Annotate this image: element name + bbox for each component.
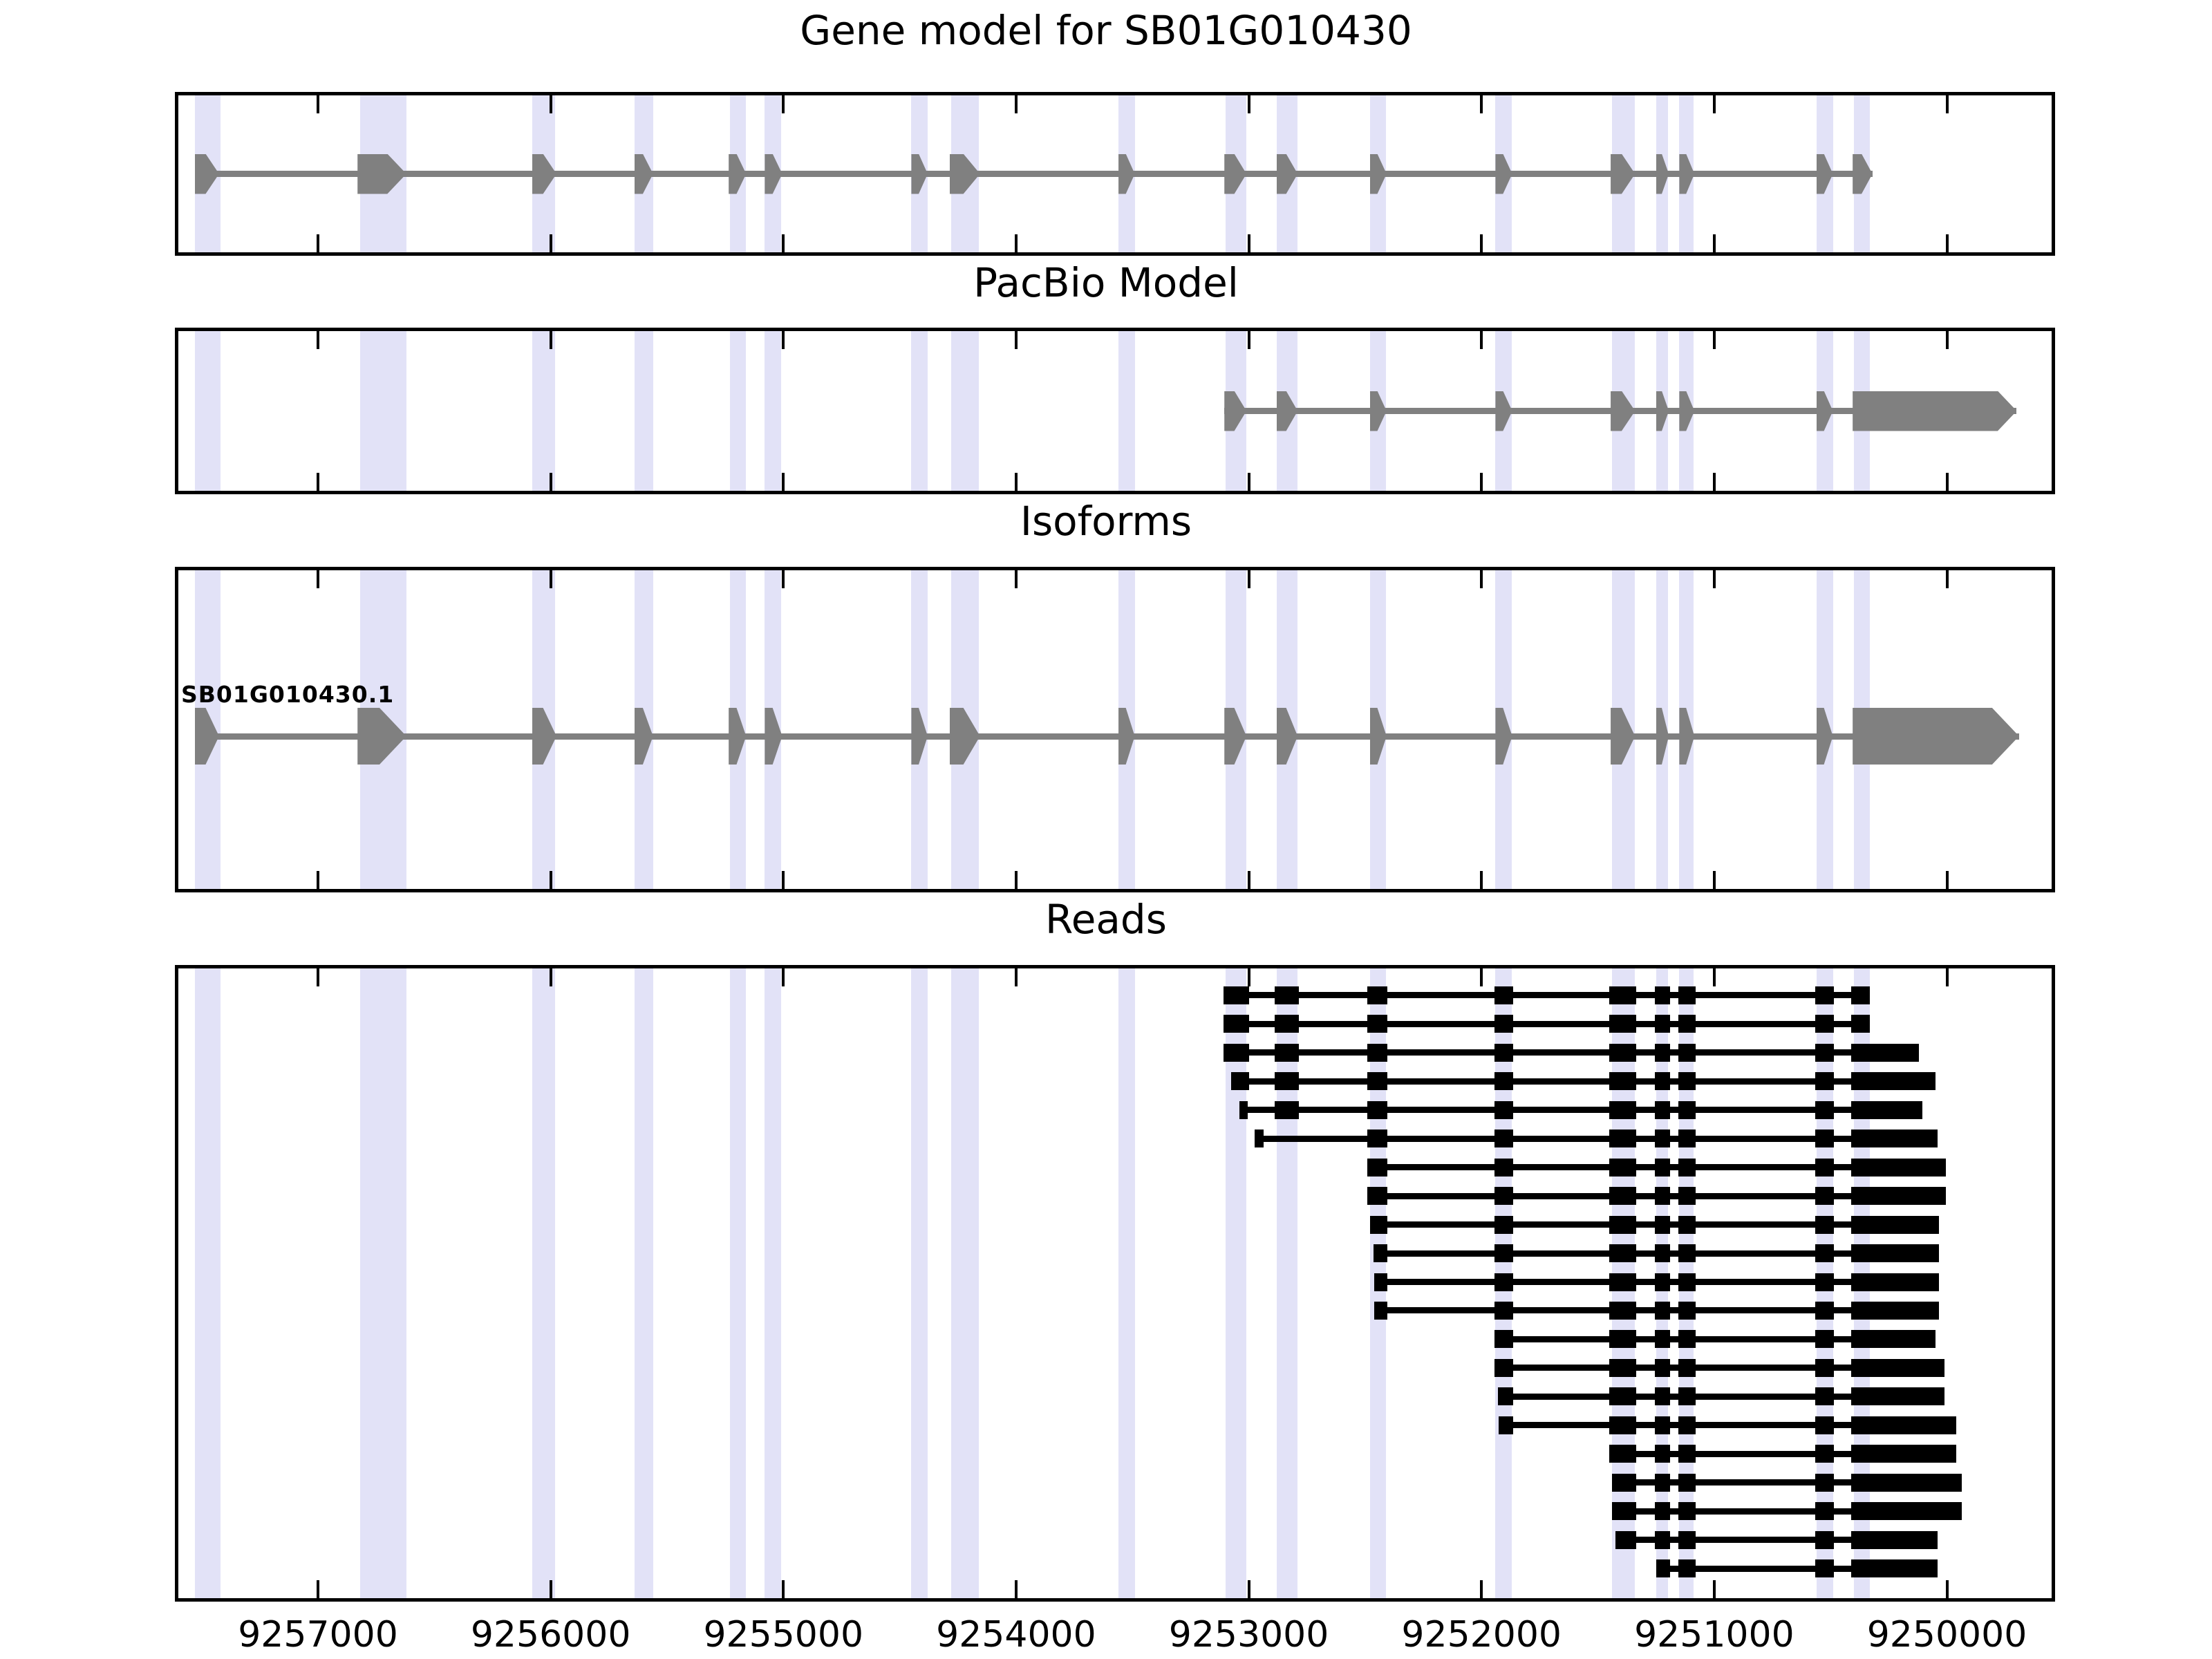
highlight-band bbox=[951, 331, 979, 491]
read-exon-block bbox=[1678, 1474, 1696, 1492]
x-tick-mark bbox=[1248, 570, 1250, 588]
read-exon-block bbox=[1655, 1359, 1670, 1377]
read-connector-line bbox=[1255, 1136, 1938, 1142]
read-exon-block bbox=[1275, 1044, 1299, 1062]
highlight-band bbox=[1118, 331, 1135, 491]
highlight-band bbox=[730, 331, 747, 491]
read-exon-block bbox=[1231, 1072, 1248, 1090]
read-exon-block bbox=[1815, 1330, 1834, 1348]
read-exon-block bbox=[1367, 1159, 1387, 1177]
x-tick-mark bbox=[317, 473, 319, 491]
read-exon-block bbox=[1609, 1244, 1636, 1262]
read-exon-block bbox=[1609, 986, 1636, 1004]
read-exon-block bbox=[1609, 1130, 1636, 1147]
read-exon-block bbox=[1609, 1101, 1636, 1119]
x-tick-mark bbox=[317, 968, 319, 986]
x-tick-mark bbox=[550, 968, 552, 986]
x-tick-mark bbox=[1015, 968, 1018, 986]
x-tick-mark bbox=[1946, 1580, 1949, 1598]
read-exon-block bbox=[1367, 1101, 1387, 1119]
read-exon-block bbox=[1609, 1072, 1636, 1090]
isoform-label: SB01G010430.1 bbox=[181, 681, 394, 708]
read-exon-block bbox=[1678, 1187, 1696, 1205]
read-exon-block bbox=[1851, 1159, 1945, 1177]
read-exon-block bbox=[1851, 1187, 1945, 1205]
read-exon-block bbox=[1655, 986, 1670, 1004]
read-exon-block bbox=[1656, 1559, 1670, 1577]
read-exon-block bbox=[1609, 1216, 1636, 1234]
x-tick-mark bbox=[1713, 871, 1716, 889]
read-exon-block bbox=[1655, 1244, 1670, 1262]
read-exon-block bbox=[1678, 1244, 1696, 1262]
read-exon-block bbox=[1498, 1387, 1513, 1405]
read-exon-block bbox=[1851, 1216, 1938, 1234]
highlight-band bbox=[911, 331, 928, 491]
read-exon-block bbox=[1494, 1015, 1513, 1033]
read-exon-block bbox=[1494, 986, 1513, 1004]
x-tick-mark bbox=[782, 968, 785, 986]
read-exon-block bbox=[1494, 1101, 1513, 1119]
read-exon-block bbox=[1655, 1159, 1670, 1177]
read-exon-block bbox=[1851, 1416, 1956, 1434]
read-exon-block bbox=[1367, 1187, 1387, 1205]
read-exon-block bbox=[1678, 1072, 1696, 1090]
read-exon-block bbox=[1815, 1072, 1834, 1090]
x-tick-mark bbox=[1015, 95, 1018, 113]
read-exon-block bbox=[1655, 1130, 1670, 1147]
read-exon-block bbox=[1678, 1531, 1696, 1549]
read-exon-block bbox=[1815, 1216, 1834, 1234]
read-exon-block bbox=[1374, 1244, 1387, 1262]
x-tick-mark bbox=[550, 95, 552, 113]
highlight-band bbox=[635, 331, 653, 491]
read-exon-block bbox=[1655, 1273, 1670, 1291]
read-exon-block bbox=[1275, 1015, 1299, 1033]
intron-line bbox=[195, 733, 2019, 740]
x-tick-mark bbox=[1480, 570, 1483, 588]
read-exon-block bbox=[1815, 1130, 1834, 1147]
read-exon-block bbox=[1678, 1359, 1696, 1377]
read-exon-block bbox=[1494, 1130, 1513, 1147]
read-exon-block bbox=[1494, 1072, 1513, 1090]
read-exon-block bbox=[1609, 1044, 1636, 1062]
read-exon-block bbox=[1655, 1216, 1670, 1234]
read-exon-block bbox=[1678, 1502, 1696, 1520]
read-exon-block bbox=[1815, 1187, 1834, 1205]
x-tick-label: 9254000 bbox=[936, 1614, 1096, 1656]
read-exon-block bbox=[1851, 1044, 1919, 1062]
read-exon-block bbox=[1370, 1216, 1387, 1234]
read-exon-block bbox=[1494, 1244, 1513, 1262]
read-exon-block bbox=[1609, 1187, 1636, 1205]
read-exon-block bbox=[1815, 1359, 1834, 1377]
read-exon-block bbox=[1851, 1359, 1944, 1377]
panel-title-gene-model: Gene model for SB01G010430 bbox=[0, 7, 2212, 54]
x-tick-mark bbox=[1015, 473, 1018, 491]
x-tick-mark bbox=[550, 1580, 552, 1598]
read-exon-block bbox=[1609, 1159, 1636, 1177]
axes-reads bbox=[175, 965, 2055, 1602]
x-tick-mark bbox=[1946, 871, 1949, 889]
x-tick-mark bbox=[1713, 1580, 1716, 1598]
read-exon-block bbox=[1815, 1531, 1834, 1549]
read-exon-block bbox=[1815, 986, 1834, 1004]
read-exon-block bbox=[1655, 1387, 1670, 1405]
x-tick-mark bbox=[1480, 871, 1483, 889]
read-exon-block bbox=[1851, 1330, 1935, 1348]
axes-pacbio-model bbox=[175, 328, 2055, 494]
x-tick-label: 9257000 bbox=[238, 1614, 398, 1656]
x-tick-mark bbox=[782, 871, 785, 889]
read-connector-line bbox=[1224, 1021, 1871, 1027]
read-exon-block bbox=[1851, 1130, 1938, 1147]
read-exon-block bbox=[1494, 1330, 1513, 1348]
highlight-band bbox=[951, 968, 979, 1598]
x-tick-mark bbox=[1480, 473, 1483, 491]
read-exon-block bbox=[1609, 1273, 1636, 1291]
read-exon-block bbox=[1367, 1044, 1387, 1062]
x-tick-mark bbox=[1248, 968, 1250, 986]
read-exon-block bbox=[1609, 1359, 1636, 1377]
read-exon-block bbox=[1851, 1387, 1944, 1405]
x-tick-mark bbox=[1248, 473, 1250, 491]
x-tick-label: 9253000 bbox=[1169, 1614, 1329, 1656]
read-exon-block bbox=[1494, 1302, 1513, 1320]
x-tick-mark bbox=[1248, 871, 1250, 889]
x-tick-mark bbox=[550, 331, 552, 349]
x-tick-mark bbox=[1015, 871, 1018, 889]
read-exon-block bbox=[1255, 1130, 1264, 1147]
read-exon-block bbox=[1374, 1273, 1387, 1291]
read-exon-block bbox=[1815, 1445, 1834, 1463]
highlight-band bbox=[1118, 968, 1135, 1598]
read-exon-block bbox=[1655, 1416, 1670, 1434]
read-exon-block bbox=[1851, 1474, 1962, 1492]
read-exon-block bbox=[1678, 1416, 1696, 1434]
read-exon-block bbox=[1678, 1387, 1696, 1405]
read-exon-block bbox=[1815, 1302, 1834, 1320]
x-tick-mark bbox=[1480, 1580, 1483, 1598]
highlight-band bbox=[1226, 968, 1246, 1598]
read-exon-block bbox=[1678, 1130, 1696, 1147]
read-exon-block bbox=[1655, 1302, 1670, 1320]
x-tick-mark bbox=[1946, 570, 1949, 588]
read-exon-block bbox=[1275, 986, 1299, 1004]
highlight-band bbox=[360, 968, 406, 1598]
x-tick-mark bbox=[550, 871, 552, 889]
read-exon-block bbox=[1224, 1044, 1249, 1062]
axes-isoforms: SB01G010430.1 bbox=[175, 567, 2055, 892]
read-exon-block bbox=[1815, 1159, 1834, 1177]
x-tick-mark bbox=[317, 95, 319, 113]
read-exon-block bbox=[1655, 1072, 1670, 1090]
read-exon-block bbox=[1494, 1359, 1513, 1377]
read-exon-block bbox=[1815, 1387, 1834, 1405]
read-exon-block bbox=[1655, 1531, 1670, 1549]
x-tick-mark bbox=[1015, 331, 1018, 349]
x-tick-mark bbox=[1248, 1580, 1250, 1598]
read-exon-block bbox=[1678, 1302, 1696, 1320]
x-tick-mark bbox=[782, 95, 785, 113]
highlight-band bbox=[635, 968, 653, 1598]
x-tick-mark bbox=[1248, 331, 1250, 349]
x-tick-mark bbox=[1946, 331, 1949, 349]
panel-title-reads: Reads bbox=[0, 896, 2212, 943]
x-tick-label: 9256000 bbox=[471, 1614, 631, 1656]
highlight-band bbox=[765, 968, 781, 1598]
highlight-band bbox=[360, 331, 406, 491]
x-tick-mark bbox=[550, 570, 552, 588]
read-exon-block bbox=[1494, 1216, 1513, 1234]
read-exon-block bbox=[1374, 1302, 1387, 1320]
figure-canvas: Gene model for SB01G010430 PacBio Model … bbox=[0, 0, 2212, 1659]
highlight-band bbox=[730, 968, 747, 1598]
pacbio-model-exon bbox=[1853, 391, 2016, 431]
read-exon-block bbox=[1367, 986, 1387, 1004]
read-exon-block bbox=[1609, 1416, 1636, 1434]
read-exon-block bbox=[1815, 1244, 1834, 1262]
x-tick-mark bbox=[1713, 570, 1716, 588]
x-tick-mark bbox=[1015, 570, 1018, 588]
read-exon-block bbox=[1851, 1244, 1938, 1262]
x-tick-mark bbox=[1480, 331, 1483, 349]
x-tick-label: 9255000 bbox=[703, 1614, 863, 1656]
x-tick-label: 9251000 bbox=[1634, 1614, 1794, 1656]
read-exon-block bbox=[1815, 1044, 1834, 1062]
x-tick-mark bbox=[782, 234, 785, 252]
read-exon-block bbox=[1815, 1502, 1834, 1520]
read-exon-block bbox=[1678, 1159, 1696, 1177]
read-exon-block bbox=[1615, 1531, 1636, 1549]
read-exon-block bbox=[1367, 1015, 1387, 1033]
read-exon-block bbox=[1815, 1273, 1834, 1291]
highlight-band bbox=[195, 968, 221, 1598]
read-exon-block bbox=[1851, 1531, 1938, 1549]
x-tick-mark bbox=[1713, 234, 1716, 252]
x-tick-mark bbox=[1015, 234, 1018, 252]
x-tick-mark bbox=[782, 570, 785, 588]
read-exon-block bbox=[1609, 1387, 1636, 1405]
read-exon-block bbox=[1609, 1302, 1636, 1320]
read-exon-block bbox=[1851, 1273, 1938, 1291]
x-tick-mark bbox=[1946, 95, 1949, 113]
x-tick-mark bbox=[317, 570, 319, 588]
read-exon-block bbox=[1494, 1273, 1513, 1291]
read-exon-block bbox=[1851, 1072, 1935, 1090]
read-exon-block bbox=[1494, 1044, 1513, 1062]
read-exon-block bbox=[1678, 1044, 1696, 1062]
read-exon-block bbox=[1815, 1101, 1834, 1119]
read-exon-block bbox=[1494, 1187, 1513, 1205]
x-tick-mark bbox=[1015, 1580, 1018, 1598]
x-tick-label: 9250000 bbox=[1867, 1614, 2027, 1656]
read-exon-block bbox=[1851, 1101, 1922, 1119]
read-exon-block bbox=[1655, 1502, 1670, 1520]
x-tick-mark bbox=[317, 331, 319, 349]
read-exon-block bbox=[1609, 1445, 1636, 1463]
read-exon-block bbox=[1609, 1330, 1636, 1348]
read-exon-block bbox=[1655, 1474, 1670, 1492]
x-tick-mark bbox=[1480, 95, 1483, 113]
x-tick-mark bbox=[782, 331, 785, 349]
x-tick-mark bbox=[317, 871, 319, 889]
read-exon-block bbox=[1678, 1216, 1696, 1234]
read-exon-block bbox=[1851, 1502, 1962, 1520]
x-tick-mark bbox=[1713, 331, 1716, 349]
read-exon-block bbox=[1678, 1015, 1696, 1033]
read-exon-block bbox=[1678, 1330, 1696, 1348]
read-exon-block bbox=[1678, 1101, 1696, 1119]
read-exon-block bbox=[1655, 1187, 1670, 1205]
read-exon-block bbox=[1367, 1072, 1387, 1090]
read-exon-block bbox=[1678, 1445, 1696, 1463]
panel-title-isoforms: Isoforms bbox=[0, 498, 2212, 545]
x-tick-label: 9252000 bbox=[1401, 1614, 1562, 1656]
axes-gene-model bbox=[175, 92, 2055, 256]
x-tick-mark bbox=[1713, 95, 1716, 113]
x-tick-mark bbox=[550, 234, 552, 252]
x-tick-mark bbox=[1946, 473, 1949, 491]
highlight-band bbox=[532, 331, 556, 491]
read-exon-block bbox=[1851, 1445, 1956, 1463]
read-exon-block bbox=[1678, 1559, 1696, 1577]
read-exon-block bbox=[1367, 1130, 1387, 1147]
read-exon-block bbox=[1275, 1072, 1299, 1090]
read-exon-block bbox=[1499, 1416, 1512, 1434]
read-exon-block bbox=[1678, 986, 1696, 1004]
read-exon-block bbox=[1851, 986, 1870, 1004]
read-exon-block bbox=[1851, 1015, 1870, 1033]
read-exon-block bbox=[1655, 1101, 1670, 1119]
x-tick-mark bbox=[1713, 473, 1716, 491]
read-exon-block bbox=[1678, 1273, 1696, 1291]
x-tick-mark bbox=[1480, 234, 1483, 252]
read-exon-block bbox=[1815, 1015, 1834, 1033]
highlight-band bbox=[532, 968, 556, 1598]
highlight-band bbox=[195, 331, 221, 491]
read-exon-block bbox=[1851, 1302, 1938, 1320]
x-tick-mark bbox=[1480, 968, 1483, 986]
read-exon-block bbox=[1224, 1015, 1249, 1033]
read-exon-block bbox=[1612, 1474, 1636, 1492]
read-exon-block bbox=[1609, 1015, 1636, 1033]
read-exon-block bbox=[1612, 1502, 1636, 1520]
read-exon-block bbox=[1494, 1159, 1513, 1177]
x-tick-mark bbox=[1946, 234, 1949, 252]
x-tick-mark bbox=[317, 234, 319, 252]
read-exon-block bbox=[1224, 986, 1249, 1004]
highlight-band bbox=[765, 331, 781, 491]
read-exon-block bbox=[1815, 1559, 1834, 1577]
read-exon-block bbox=[1655, 1445, 1670, 1463]
x-tick-mark bbox=[1248, 95, 1250, 113]
isoform-exon bbox=[1853, 708, 2019, 765]
read-exon-block bbox=[1851, 1559, 1938, 1577]
read-connector-line bbox=[1224, 992, 1871, 998]
x-tick-mark bbox=[1248, 234, 1250, 252]
x-tick-mark bbox=[782, 473, 785, 491]
x-tick-mark bbox=[1946, 968, 1949, 986]
read-exon-block bbox=[1239, 1101, 1248, 1119]
read-exon-block bbox=[1655, 1015, 1670, 1033]
read-exon-block bbox=[1275, 1101, 1299, 1119]
highlight-band bbox=[911, 968, 928, 1598]
read-exon-block bbox=[1815, 1474, 1834, 1492]
read-exon-block bbox=[1815, 1416, 1834, 1434]
x-tick-mark bbox=[550, 473, 552, 491]
read-exon-block bbox=[1655, 1330, 1670, 1348]
x-tick-mark bbox=[317, 1580, 319, 1598]
x-tick-mark bbox=[782, 1580, 785, 1598]
panel-title-pacbio-model: PacBio Model bbox=[0, 259, 2212, 306]
x-tick-mark bbox=[1713, 968, 1716, 986]
read-connector-line bbox=[1224, 1049, 1920, 1056]
read-exon-block bbox=[1655, 1044, 1670, 1062]
highlight-band bbox=[1277, 968, 1297, 1598]
